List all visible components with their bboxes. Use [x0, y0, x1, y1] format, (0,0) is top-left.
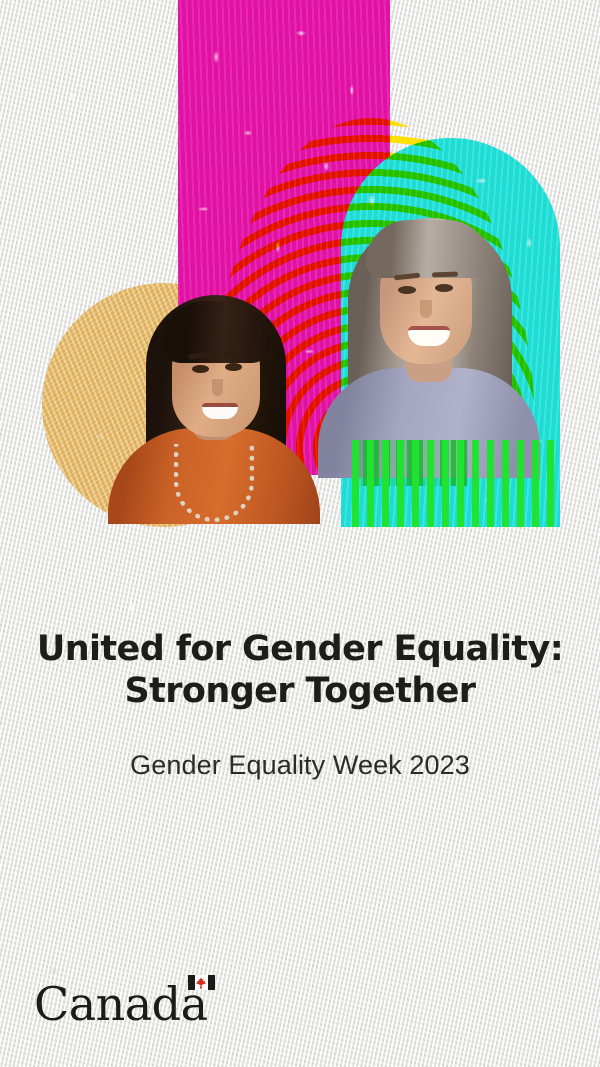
older-woman-eye-left [398, 286, 416, 294]
poster-canvas: United for Gender Equality: Stronger Tog… [0, 0, 600, 1067]
flag-bar-right [208, 975, 215, 990]
flag-bar-left [188, 975, 195, 990]
young-woman-nose [212, 379, 223, 396]
young-woman-eye-left [192, 365, 209, 373]
canada-flag-icon [188, 975, 215, 990]
older-woman-smile [408, 326, 450, 346]
page-subtitle: Gender Equality Week 2023 [0, 750, 600, 781]
maple-leaf-icon [196, 977, 207, 989]
title-line-2: Stronger Together [125, 671, 476, 711]
older-woman-hair-front [366, 220, 490, 278]
older-woman-eyebrow-right [432, 272, 458, 278]
older-woman-eye-right [435, 284, 453, 292]
artwork-collage [0, 0, 600, 560]
young-woman-photo [96, 283, 330, 524]
older-woman-photo [318, 212, 540, 478]
page-title: United for Gender Equality: Stronger Tog… [0, 628, 600, 712]
green-vertical-stripes-band [352, 440, 560, 527]
older-woman-nose [420, 300, 432, 318]
young-woman-eye-right [225, 363, 242, 371]
young-woman-necklace [174, 444, 254, 522]
canada-wordmark: Canada [34, 981, 215, 1027]
canada-wordmark-text: Canada [34, 981, 208, 1027]
young-woman-hair-front [162, 301, 270, 363]
title-line-1: United for Gender Equality: [37, 629, 563, 669]
text-block: United for Gender Equality: Stronger Tog… [0, 628, 600, 781]
young-woman-smile [202, 403, 238, 419]
